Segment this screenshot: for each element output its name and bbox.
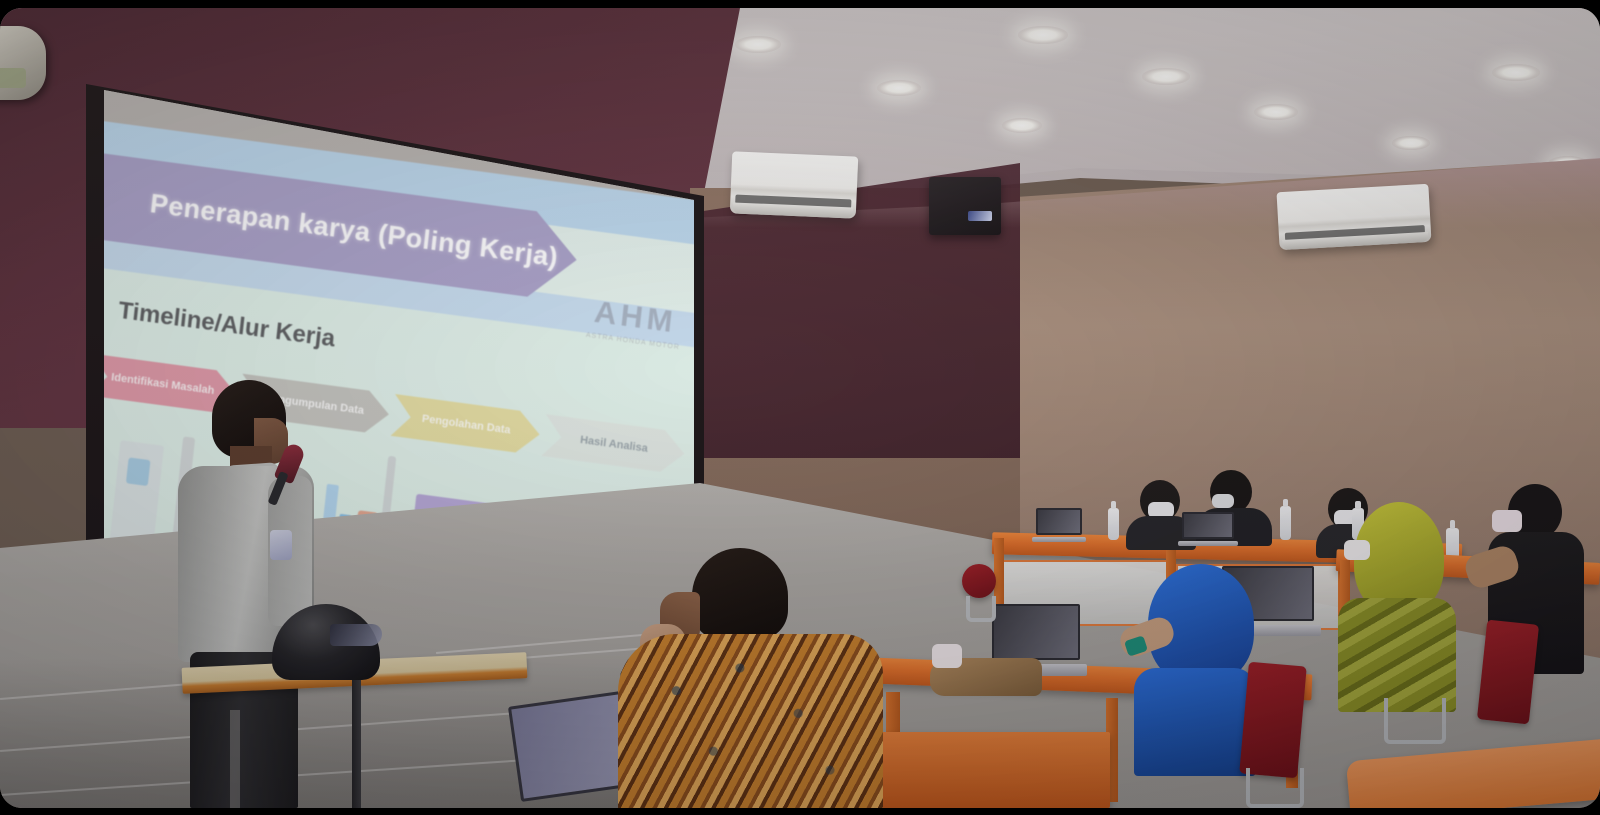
downlight-icon [1392,136,1430,150]
participant-batik-foreground [600,548,900,808]
downlight-icon [735,36,781,53]
batik-pattern [618,634,883,808]
water-bottle [1108,508,1119,540]
laptop [1036,508,1082,542]
air-conditioner-icon [730,151,858,218]
downlight-icon [877,80,921,96]
chair-legs [1384,698,1446,744]
desk-item [932,644,962,668]
chair-legs [1246,768,1304,808]
chair [1477,620,1539,725]
chair [962,564,996,598]
downlight-icon [1002,118,1042,133]
photo-frame: Penerapan karya (Poling Kerja) AHM ASTRA… [0,0,1600,815]
process-step-label: Pengolahan Data [407,411,525,438]
torso [1134,668,1256,776]
face-mask-icon [1212,494,1234,508]
ceiling-corner-speaker-icon [0,26,46,100]
presenter-badge [270,530,292,560]
presenter-leg-gap [230,710,240,808]
chair-legs [966,596,996,622]
face-mask-icon [1344,540,1370,560]
helmet-visor [330,624,382,646]
downlight-icon [1142,68,1190,85]
training-room-photo: Penerapan karya (Poling Kerja) AHM ASTRA… [0,8,1600,808]
laptop [1182,512,1234,546]
desk [880,732,1110,808]
air-conditioner-icon [1276,184,1431,250]
face-mask-icon [1492,510,1522,532]
participant-blue-hijab [1128,564,1258,776]
participant-olive-hijab [1336,502,1458,712]
presenter [172,380,322,808]
torso [1338,598,1456,712]
downlight-icon [1492,64,1540,81]
water-bottle [1280,506,1291,540]
wall-mounted-projector-icon [929,177,1001,235]
downlight-icon [1254,104,1298,120]
front-table-leg [352,680,361,808]
process-step-label: Hasil Analisa [566,432,663,457]
chair [1239,662,1307,779]
downlight-icon [1018,26,1068,44]
head [692,548,788,640]
